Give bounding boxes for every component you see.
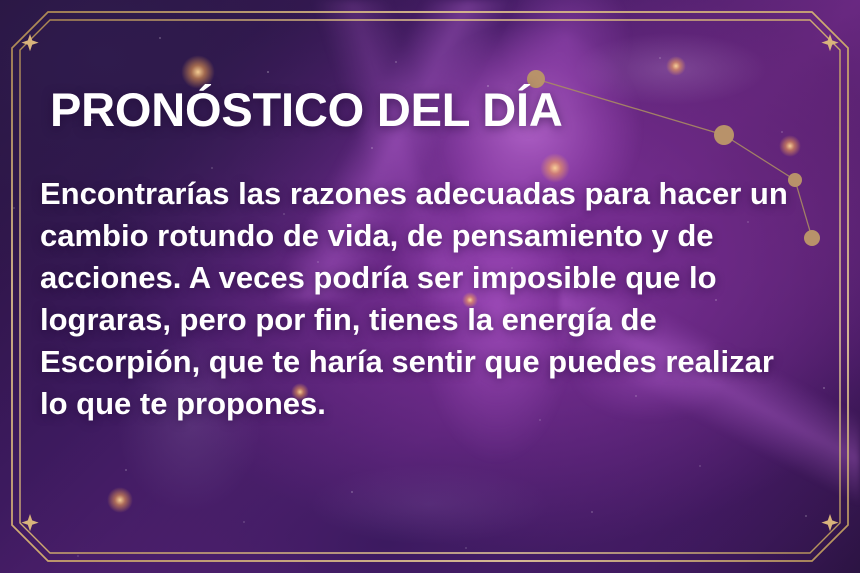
page-title: PRONÓSTICO DEL DÍA xyxy=(50,86,800,133)
horoscope-body-text: Encontrarías las razones adecuadas para … xyxy=(40,173,792,425)
poster-content: PRONÓSTICO DEL DÍA Encontrarías las razo… xyxy=(40,86,800,425)
horoscope-poster: PRONÓSTICO DEL DÍA Encontrarías las razo… xyxy=(0,0,860,573)
